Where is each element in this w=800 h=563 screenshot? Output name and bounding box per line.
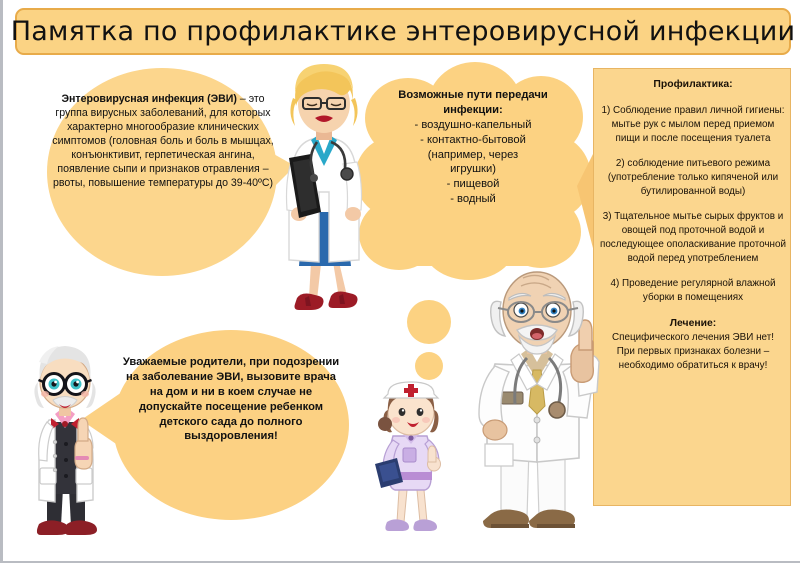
- prevention-item-1: 1) Соблюдение правил личной гигиены: мыт…: [599, 104, 787, 146]
- prevention-item-4: 4) Проведение регулярной влажной уборки …: [599, 277, 787, 305]
- poster-canvas: Памятка по профилактике энтеровирусной и…: [0, 0, 800, 563]
- definition-bubble-heading: Энтеровирусная инфекция (ЭВИ): [61, 93, 237, 105]
- prevention-item-2: 2) соблюдение питьевого режима (употребл…: [599, 157, 787, 199]
- nurse-illustration: [363, 372, 459, 540]
- thought-dot-large: [407, 300, 451, 344]
- definition-bubble-text: Энтеровирусная инфекция (ЭВИ) – это груп…: [51, 92, 275, 191]
- page-title: Памятка по профилактике энтеровирусной и…: [11, 16, 795, 47]
- treatment-title: Лечение:: [599, 317, 787, 332]
- treatment-title-row: Лечение:: [599, 317, 787, 332]
- prevention-title-row: Профилактика:: [599, 78, 787, 93]
- white-haired-doctor-illustration: [17, 338, 113, 546]
- treatment-text: Специфического лечения ЭВИ нет! При перв…: [599, 331, 787, 373]
- prevention-panel-content: Профилактика: 1) Соблюдение правил лично…: [599, 78, 787, 384]
- transmission-bubble-heading: Возможные пути передачи инфекции:: [398, 89, 547, 116]
- prevention-title: Профилактика:: [599, 78, 787, 93]
- prevention-item-3: 3) Тщательное мытье сырых фруктов и овощ…: [599, 210, 787, 266]
- transmission-bubble-items: - воздушно-капельный - контактно-бытовой…: [415, 119, 532, 205]
- female-doctor-illustration: [265, 62, 383, 320]
- transmission-bubble-text: Возможные пути передачи инфекции: - возд…: [375, 88, 571, 207]
- old-doctor-illustration: [465, 258, 613, 543]
- parents-bubble-text: Уважаемые родители, при подозрении на за…: [121, 355, 341, 444]
- poster-title-bar: Памятка по профилактике энтеровирусной и…: [15, 8, 791, 55]
